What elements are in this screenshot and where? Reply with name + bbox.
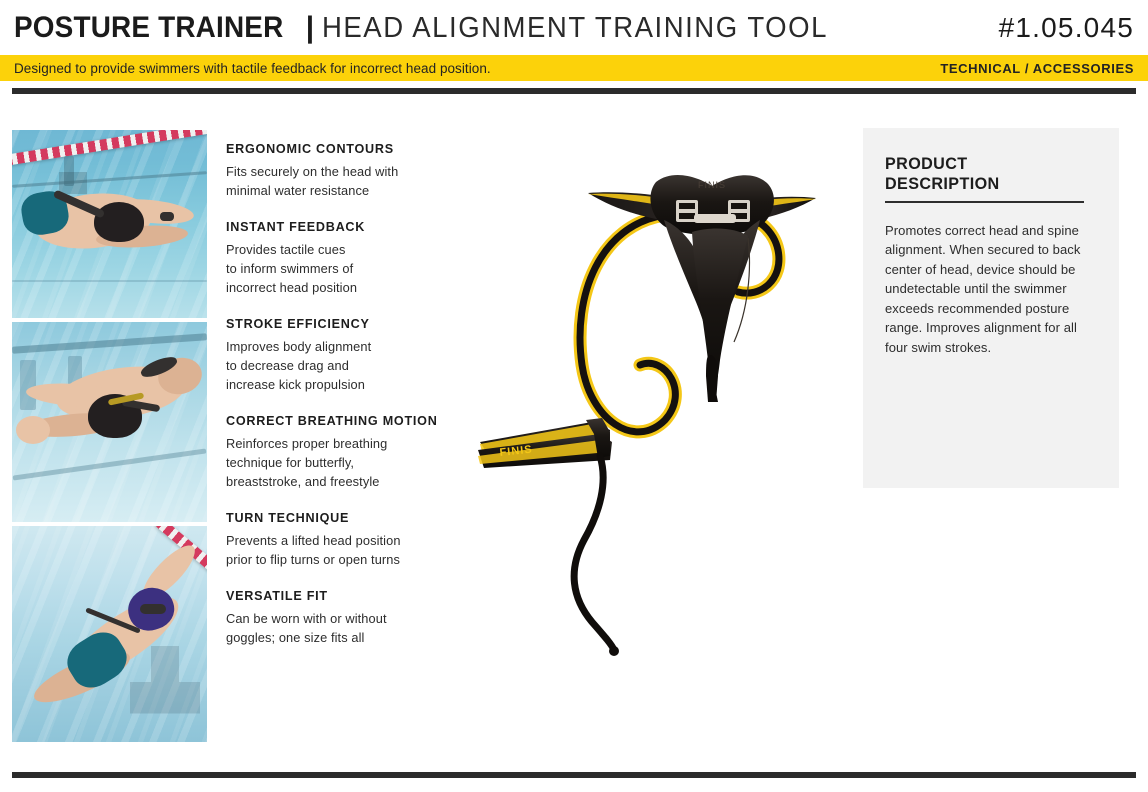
product-description-body: Promotes correct head and spine alignmen… bbox=[885, 221, 1083, 358]
pool-structure-shadow bbox=[59, 172, 87, 194]
feature-line: goggles; one size fits all bbox=[226, 628, 426, 647]
feature-title: VERSATILE FIT bbox=[226, 589, 426, 603]
spec-sheet-page: POSTURE TRAINER | HEAD ALIGNMENT TRAININ… bbox=[0, 0, 1148, 792]
category-label: TECHNICAL / ACCESSORIES bbox=[940, 61, 1134, 76]
feature-line: Improves body alignment bbox=[226, 337, 426, 356]
water-ripple bbox=[12, 280, 207, 282]
posture-trainer-side-profile-view: FINIS bbox=[478, 418, 619, 656]
feature-item: CORRECT BREATHING MOTION Reinforces prop… bbox=[226, 414, 426, 491]
feature-item: TURN TECHNIQUE Prevents a lifted head po… bbox=[226, 511, 426, 569]
photo-swimmer-streamline-underwater-purple-cap bbox=[12, 526, 207, 742]
profile-tail-tip bbox=[609, 646, 619, 656]
tagline-bar: Designed to provide swimmers with tactil… bbox=[0, 55, 1148, 81]
feature-line: Can be worn with or without bbox=[226, 609, 426, 628]
strap-loop-core bbox=[580, 215, 675, 432]
clip-left-slot-top bbox=[679, 203, 695, 209]
feature-line: incorrect head position bbox=[226, 278, 426, 297]
feature-line: minimal water resistance bbox=[226, 181, 426, 200]
feature-item: STROKE EFFICIENCY Improves body alignmen… bbox=[226, 317, 426, 394]
pool-block-shadow bbox=[20, 360, 36, 410]
feature-title: TURN TECHNIQUE bbox=[226, 511, 426, 525]
header-title-row: POSTURE TRAINER | HEAD ALIGNMENT TRAININ… bbox=[0, 0, 1148, 55]
feature-line: to decrease drag and bbox=[226, 356, 426, 375]
heading-underline bbox=[885, 201, 1084, 203]
feature-line: technique for butterfly, bbox=[226, 453, 426, 472]
feature-title: ERGONOMIC CONTOURS bbox=[226, 142, 426, 156]
clip-bridge bbox=[694, 214, 736, 223]
profile-tail-rod bbox=[574, 456, 614, 650]
feature-line: Provides tactile cues bbox=[226, 240, 426, 259]
photo-swimmer-freestyle-underwater-lane-rope bbox=[12, 130, 207, 318]
brand-mark-front: FINIS bbox=[698, 180, 726, 190]
posture-trainer-front-view: FINIS bbox=[580, 175, 816, 432]
feature-line: breaststroke, and freestyle bbox=[226, 472, 426, 491]
goggles bbox=[140, 604, 166, 614]
feature-item: VERSATILE FIT Can be worn with or withou… bbox=[226, 589, 426, 647]
product-subtitle: HEAD ALIGNMENT TRAINING TOOL bbox=[322, 12, 828, 45]
feature-line: Fits securely on the head with bbox=[226, 162, 426, 181]
clip-left-slot-bottom bbox=[679, 213, 695, 219]
swimmer-cap bbox=[94, 202, 144, 242]
tagline-text: Designed to provide swimmers with tactil… bbox=[14, 61, 491, 76]
product-description-heading: PRODUCT DESCRIPTION bbox=[885, 154, 1085, 194]
page-title: POSTURE TRAINER | HEAD ALIGNMENT TRAININ… bbox=[14, 11, 855, 45]
clip-right-slot-top bbox=[731, 203, 747, 209]
product-description-panel: PRODUCT DESCRIPTION Promotes correct hea… bbox=[863, 128, 1119, 488]
feature-item: INSTANT FEEDBACK Provides tactile cues t… bbox=[226, 220, 426, 297]
feature-line: to inform swimmers of bbox=[226, 259, 426, 278]
feature-line: Prevents a lifted head position bbox=[226, 531, 426, 550]
footer-divider-rule bbox=[12, 772, 1136, 778]
product-name: POSTURE TRAINER bbox=[14, 11, 283, 45]
feature-title: CORRECT BREATHING MOTION bbox=[226, 414, 426, 428]
sku-number: #1.05.045 bbox=[999, 12, 1134, 44]
feature-item: ERGONOMIC CONTOURS Fits securely on the … bbox=[226, 142, 426, 200]
feature-title: STROKE EFFICIENCY bbox=[226, 317, 426, 331]
product-image-stage: FINIS bbox=[460, 120, 850, 680]
feature-list: ERGONOMIC CONTOURS Fits securely on the … bbox=[226, 142, 426, 647]
swimmer-hands bbox=[16, 416, 50, 444]
feature-line: increase kick propulsion bbox=[226, 375, 426, 394]
product-illustrations: FINIS bbox=[460, 120, 850, 680]
wrist-band bbox=[160, 212, 174, 221]
header-divider-rule bbox=[12, 88, 1136, 94]
feature-title: INSTANT FEEDBACK bbox=[226, 220, 426, 234]
feature-line: Reinforces proper breathing bbox=[226, 434, 426, 453]
photo-gallery bbox=[12, 130, 207, 742]
title-divider: | bbox=[306, 11, 314, 45]
feature-line: prior to flip turns or open turns bbox=[226, 550, 426, 569]
photo-swimmer-butterfly-underwater-goggles bbox=[12, 322, 207, 522]
